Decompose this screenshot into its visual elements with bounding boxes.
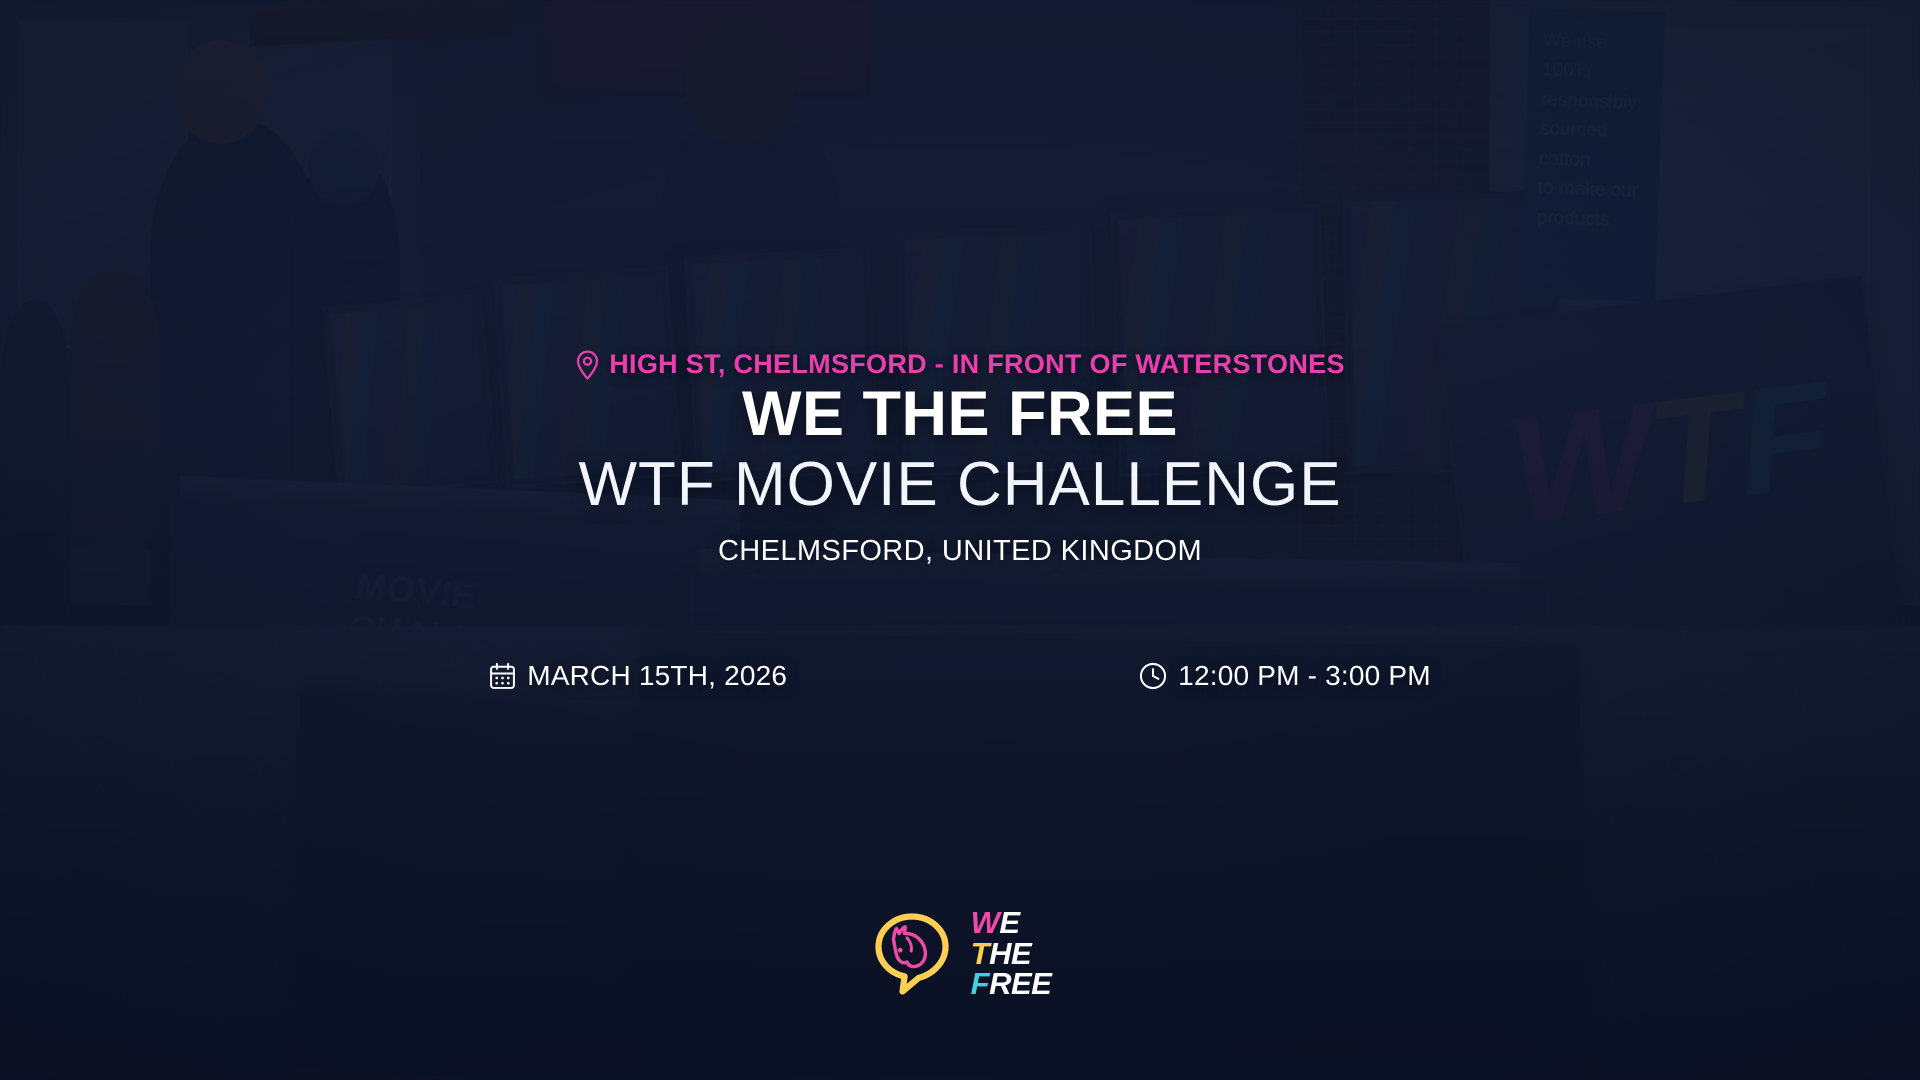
event-time-item: 12:00 PM - 3:00 PM: [1139, 660, 1431, 692]
calendar-icon: [489, 662, 516, 690]
brand-logo-line-3-accent: F: [971, 966, 989, 1001]
event-date-item: MARCH 15TH, 2026: [489, 660, 787, 692]
event-subtitle: WTF MOVIE CHALLENGE: [0, 452, 1920, 517]
brand-logo-line-3-rest: REE: [989, 966, 1051, 1001]
brand-logo-line-3: FREE: [971, 969, 1052, 1000]
event-time-text: 12:00 PM - 3:00 PM: [1178, 660, 1431, 692]
event-location-line: HIGH ST, CHELMSFORD - IN FRONT OF WATERS…: [0, 349, 1920, 380]
brand-logo-text: WE THE FREE: [971, 908, 1052, 1000]
event-date-text: MARCH 15TH, 2026: [527, 660, 787, 692]
map-pin-icon: [575, 350, 600, 380]
event-location-text: HIGH ST, CHELMSFORD - IN FRONT OF WATERS…: [609, 349, 1345, 380]
brand-logo-line-2: THE: [971, 939, 1052, 970]
brand-logo: WE THE FREE: [0, 908, 1920, 1000]
horse-speech-bubble-icon: [869, 908, 955, 1000]
clock-icon: [1139, 662, 1167, 690]
event-city: CHELMSFORD, UNITED KINGDOM: [0, 535, 1920, 568]
event-banner: WTF We use 100%responsiblysourced cotton…: [0, 0, 1920, 1080]
event-title: WE THE FREE: [0, 381, 1920, 447]
brand-logo-line-1: WE: [971, 908, 1052, 939]
event-meta-row: MARCH 15TH, 2026 12:00 PM - 3:00 PM: [0, 660, 1920, 692]
banner-content: HIGH ST, CHELMSFORD - IN FRONT OF WATERS…: [0, 0, 1920, 1080]
